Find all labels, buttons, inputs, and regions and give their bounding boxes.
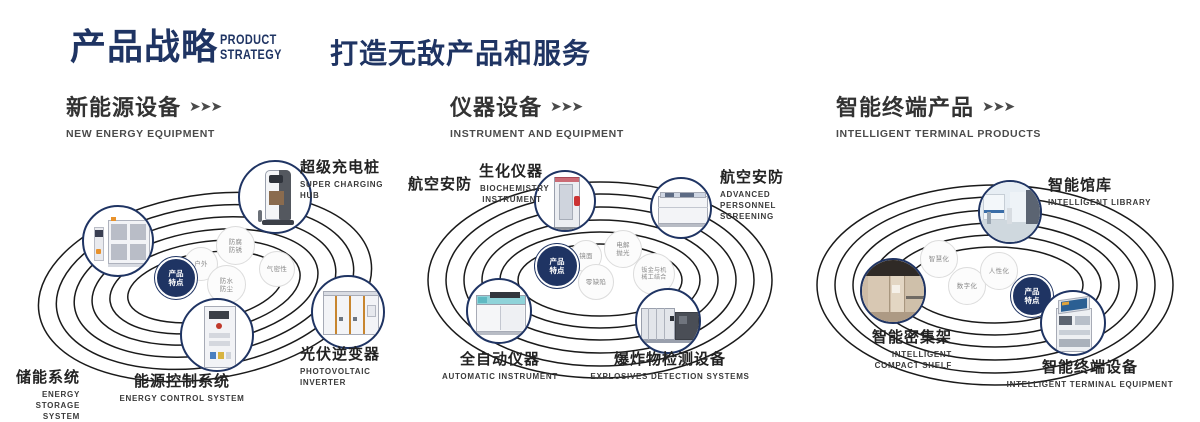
section-title-instrument: 仪器设备➤➤➤ INSTRUMENT AND EQUIPMENT — [450, 96, 624, 140]
caption-explosives-detection-systems: 爆炸物检测设备 EXPLOSIVES DETECTION SYSTEMS — [580, 350, 760, 382]
caption-cn: 智能密集架 — [790, 328, 952, 347]
section-title-cn: 仪器设备 — [450, 96, 542, 122]
page-title-en-line2: STRATEGY — [220, 47, 282, 62]
caption-cn: 储能系统 — [0, 368, 80, 387]
section-title-intelligent-terminal: 智能终端产品➤➤➤ INTELLIGENT TERMINAL PRODUCTS — [836, 96, 1041, 140]
feature-bubble-label: 防水防尘 — [217, 277, 237, 293]
caption-en: BIOCHEMISTRY INSTRUMENT — [480, 183, 544, 205]
feature-bubble: 人性化 — [980, 252, 1018, 290]
section-title-en: INSTRUMENT AND EQUIPMENT — [450, 128, 624, 140]
page-title-en-line1: PRODUCT — [220, 32, 282, 47]
core-bubble-line2: 特点 — [169, 278, 184, 287]
core-bubble-line1: 产品 — [169, 269, 184, 278]
node-automatic-instrument[interactable] — [466, 278, 532, 344]
page-header: 产品战略 PRODUCT STRATEGY 打造无敌产品和服务 — [0, 0, 1200, 90]
caption-super-charging-hub: 超级充电桩 SUPER CHARGING HUB — [300, 158, 400, 201]
caption-cn: 智能馆库 — [1048, 176, 1151, 195]
caption-en: INTELLIGENT COMPACT SHELF — [852, 349, 952, 371]
caption-energy-storage-system: 储能系统 ENERGY STORAGE SYSTEM — [0, 368, 80, 422]
caption-automatic-instrument: 全自动仪器 AUTOMATIC INSTRUMENT — [420, 350, 580, 382]
page-subtitle: 打造无敌产品和服务 — [330, 32, 591, 72]
core-bubble-product-features: 产品 特点 — [155, 257, 197, 299]
caption-cn: 能源控制系统 — [82, 372, 282, 391]
node-intelligent-library[interactable] — [978, 180, 1042, 244]
panel-new-energy: 户外 防腐防锈 气密性 防水防尘 产品 特点 — [0, 150, 400, 420]
node-energy-storage-system[interactable] — [82, 205, 154, 277]
node-explosives-detection-systems[interactable] — [635, 288, 701, 354]
node-intelligent-terminal-equipment[interactable] — [1040, 290, 1106, 356]
section-title-new-energy: 新能源设备➤➤➤ NEW ENERGY EQUIPMENT — [66, 96, 221, 140]
section-title-cn: 智能终端产品 — [836, 96, 974, 122]
caption-en: ENERGY STORAGE SYSTEM — [0, 389, 80, 422]
caption-en: AUTOMATIC INSTRUMENT — [420, 371, 580, 382]
panel-intelligent-terminal: 智慧化 数字化 人性化 产品 特点 智能馆库 INTE — [790, 150, 1200, 420]
product-strategy-infographic: 产品战略 PRODUCT STRATEGY 打造无敌产品和服务 新能源设备➤➤➤… — [0, 0, 1200, 422]
section-title-en: INTELLIGENT TERMINAL PRODUCTS — [836, 128, 1041, 140]
page-title-cn: 产品战略 — [70, 26, 218, 70]
chevron-right-triple-icon: ➤➤➤ — [550, 98, 582, 115]
caption-en: INTELLIGENT LIBRARY — [1048, 197, 1151, 208]
chevron-right-triple-icon: ➤➤➤ — [982, 98, 1014, 115]
caption-en: ENERGY CONTROL SYSTEM — [82, 393, 282, 404]
caption-en: PHOTOVOLTAIC INVERTER — [300, 366, 400, 388]
caption-intelligent-terminal-equipment: 智能终端设备 INTELLIGENT TERMINAL EQUIPMENT — [990, 358, 1190, 390]
feature-bubble-label: 钣金与机械工结合 — [641, 267, 667, 281]
chevron-right-triple-icon: ➤➤➤ — [189, 98, 221, 115]
caption-en: INTELLIGENT TERMINAL EQUIPMENT — [990, 379, 1190, 390]
feature-bubble: 气密性 — [259, 251, 295, 287]
caption-en: SUPER CHARGING HUB — [300, 179, 400, 201]
node-advanced-personnel-screening[interactable] — [650, 177, 712, 239]
caption-cn: 智能终端设备 — [990, 358, 1190, 377]
core-bubble-line2: 特点 — [1025, 296, 1040, 305]
page-title-en: PRODUCT STRATEGY — [220, 32, 282, 62]
caption-cn: 超级充电桩 — [300, 158, 400, 177]
caption-cn: 全自动仪器 — [420, 350, 580, 369]
caption-aviation-security: 航空安防 — [408, 175, 472, 194]
caption-intelligent-compact-shelf: 智能密集架 INTELLIGENT COMPACT SHELF — [790, 328, 952, 371]
feature-bubble-label: 电解抛光 — [614, 241, 633, 257]
node-energy-control-system[interactable] — [180, 298, 254, 372]
caption-en: EXPLOSIVES DETECTION SYSTEMS — [580, 371, 760, 382]
caption-photovoltaic-inverter: 光伏逆变器 PHOTOVOLTAIC INVERTER — [300, 345, 400, 388]
section-title-cn: 新能源设备 — [66, 96, 181, 122]
caption-cn: 光伏逆变器 — [300, 345, 400, 364]
caption-cn: 爆炸物检测设备 — [580, 350, 760, 369]
node-intelligent-compact-shelf[interactable] — [860, 258, 926, 324]
caption-cn: 航空安防 — [408, 175, 472, 194]
caption-intelligent-library: 智能馆库 INTELLIGENT LIBRARY — [1048, 176, 1151, 208]
node-photovoltaic-inverter[interactable] — [311, 275, 385, 349]
panel-instrument: 镜面 电解抛光 钣金与机械工结合 零缺陷 产品 特点 生化仪器 BIOCHEMI… — [400, 150, 800, 420]
core-bubble-product-features: 产品 特点 — [535, 244, 579, 288]
caption-cn: 生化仪器 — [476, 162, 546, 181]
feature-bubble: 零缺陷 — [578, 264, 614, 300]
core-bubble-line1: 产品 — [550, 257, 565, 266]
section-title-en: NEW ENERGY EQUIPMENT — [66, 128, 221, 140]
feature-bubble-label: 防腐防锈 — [226, 238, 246, 254]
caption-energy-control-system: 能源控制系统 ENERGY CONTROL SYSTEM — [82, 372, 282, 404]
caption-biochemistry-instrument: 生化仪器 BIOCHEMISTRY INSTRUMENT — [476, 162, 546, 205]
core-bubble-line1: 产品 — [1025, 287, 1040, 296]
core-bubble-line2: 特点 — [550, 266, 565, 275]
